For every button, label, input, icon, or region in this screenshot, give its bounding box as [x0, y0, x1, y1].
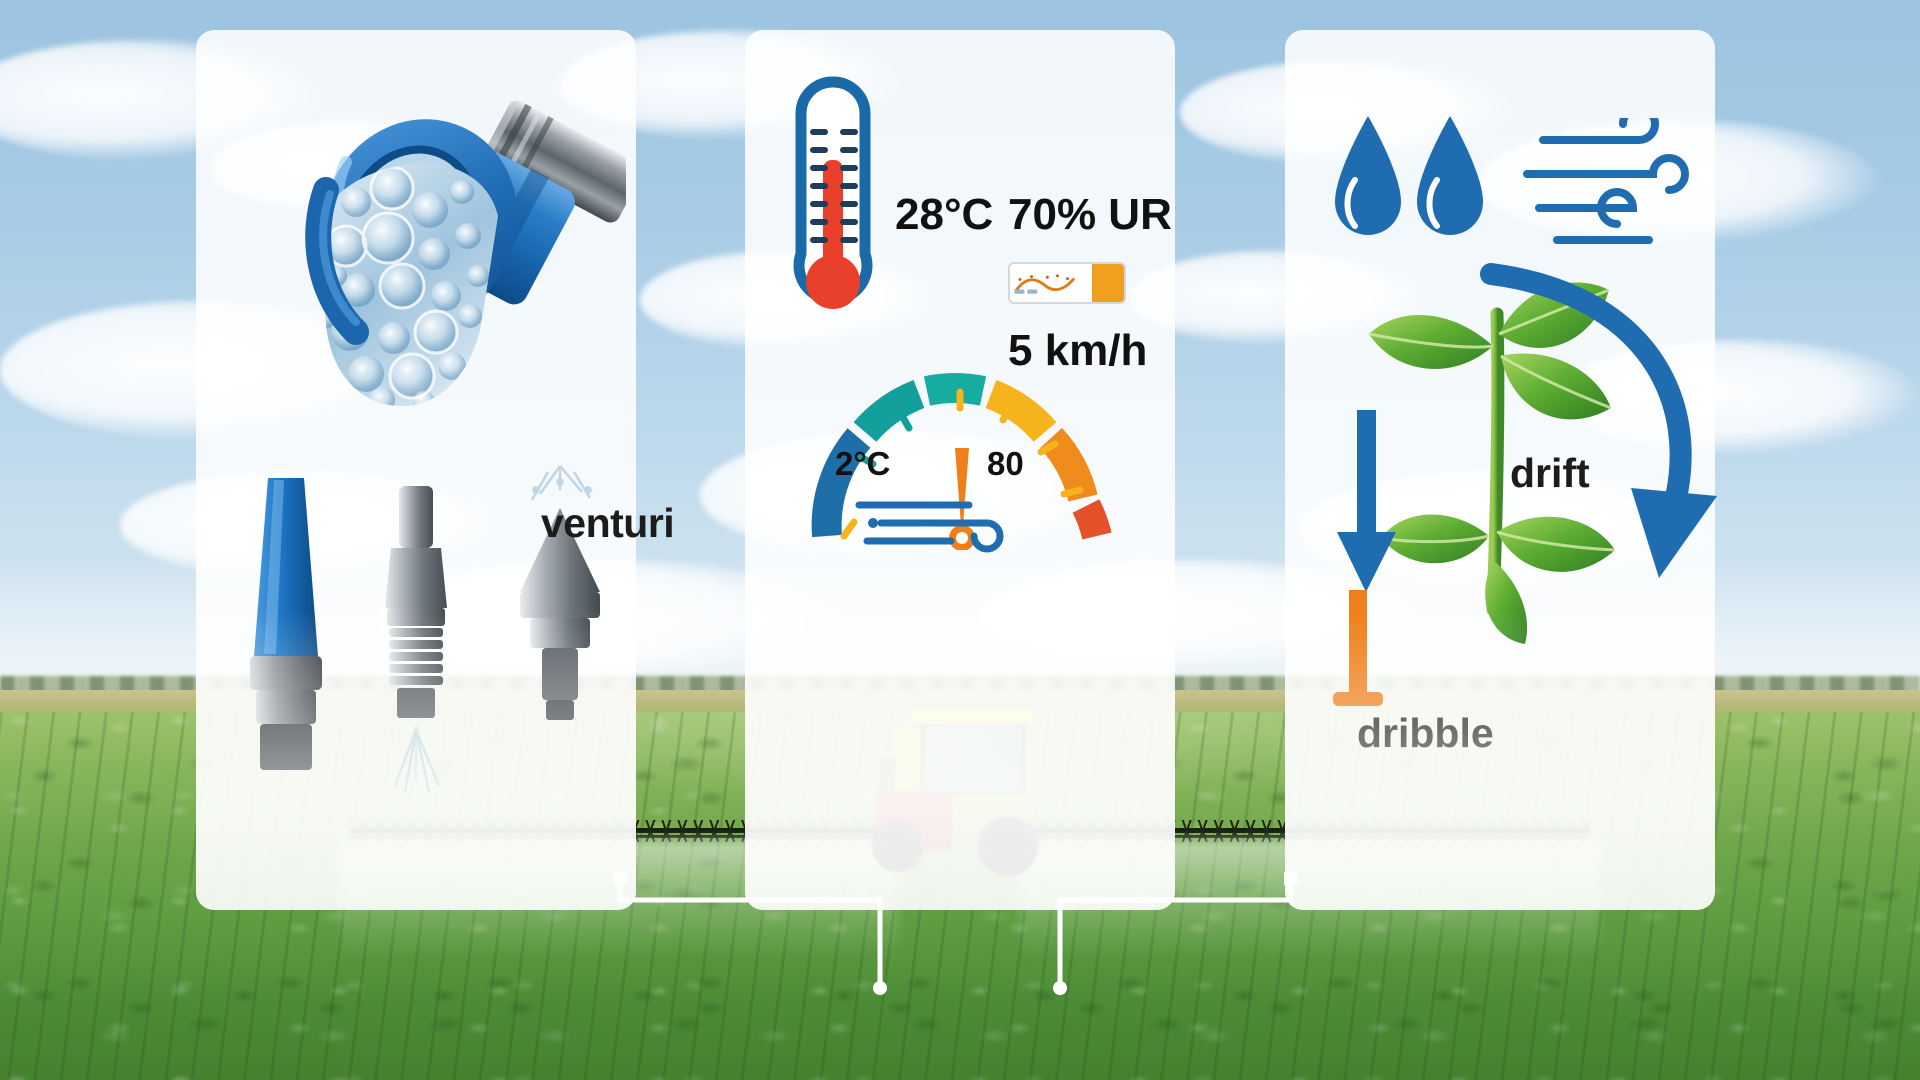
water-droplet-icon: [1331, 110, 1406, 260]
drift-and-dribble-panel: drift dribble: [1285, 30, 1715, 910]
dribble-stream-icon: [1329, 590, 1389, 730]
humidity-reading: 70% UR: [1008, 190, 1172, 240]
venturi-nozzle-panel: venturi: [196, 30, 636, 910]
wind-swirl-icon: [1513, 118, 1693, 268]
gauge-min-label: 2°C: [835, 445, 890, 483]
weather-conditions-panel: 28°C 70% UR 5 km/h: [745, 30, 1175, 910]
thermometer-icon: [773, 68, 893, 338]
anemometer-chip-icon: [1008, 262, 1126, 304]
panel-bottom-fade: [745, 610, 1175, 910]
temperature-reading: 28°C: [895, 190, 993, 240]
anemometer-trace-icon: [1010, 264, 1092, 302]
wind-icon: [845, 485, 1025, 555]
venturi-label: venturi: [541, 500, 674, 547]
anemometer-chip-fill: [1092, 264, 1124, 302]
drift-label: drift: [1510, 450, 1590, 497]
steel-threaded-tip: [361, 480, 471, 800]
gauge-max-label: 80: [987, 445, 1024, 483]
water-droplet-icon: [1413, 110, 1488, 260]
dribble-label: dribble: [1357, 710, 1494, 757]
blue-venturi-tip: [226, 470, 346, 790]
down-arrow-icon: [1321, 410, 1411, 600]
air-induction-nozzle-photo: [206, 70, 626, 460]
